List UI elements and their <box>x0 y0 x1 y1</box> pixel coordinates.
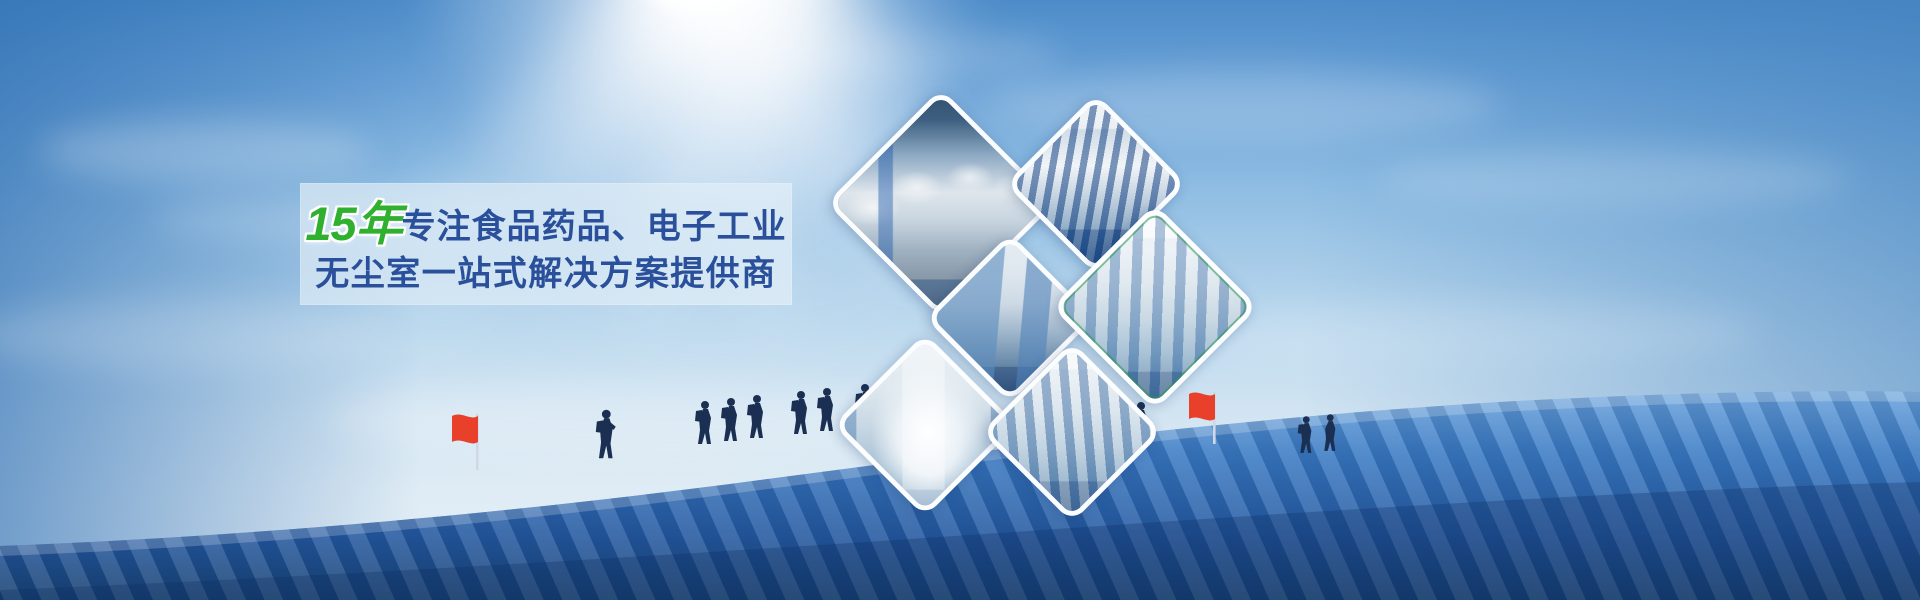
headline-line-1-text: 专注食品药品、电子工业 <box>402 208 787 246</box>
years-number: 15年 <box>305 197 401 250</box>
hero-banner: 15年专注食品药品、电子工业 无尘室一站式解决方案提供商 <box>0 0 1920 600</box>
hiker-silhouette <box>695 401 711 444</box>
hiker-silhouette <box>747 395 763 438</box>
photo-collage <box>820 80 1290 480</box>
hiker-silhouette <box>791 391 807 434</box>
headline-line-2: 无尘室一站式解决方案提供商 <box>300 257 792 292</box>
hiker-silhouette <box>721 398 737 441</box>
hiker-silhouette <box>596 410 616 459</box>
headline-panel: 15年专注食品药品、电子工业 无尘室一站式解决方案提供商 <box>300 183 792 305</box>
red-flag-left <box>452 414 479 470</box>
hiker-silhouette <box>1298 416 1312 453</box>
headline-line-1: 15年专注食品药品、电子工业 <box>300 200 792 249</box>
hiker-silhouette <box>1324 414 1335 451</box>
